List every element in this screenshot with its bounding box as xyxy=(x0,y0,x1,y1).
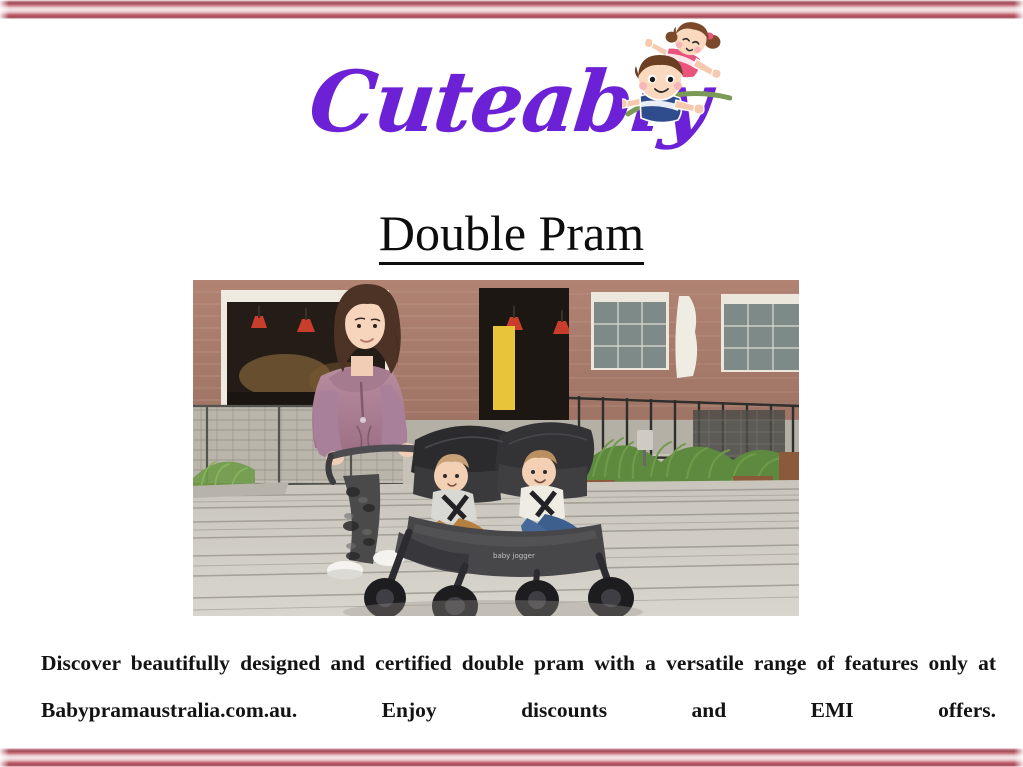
page-title: Double Pram xyxy=(0,206,1023,265)
product-photo: baby jogger xyxy=(193,280,799,616)
decorative-band-top xyxy=(0,0,1023,19)
brand-logo: Cuteably xyxy=(310,18,740,188)
decorative-band-bottom xyxy=(0,748,1023,767)
cartoon-children-icon xyxy=(622,18,732,124)
svg-text:baby jogger: baby jogger xyxy=(493,552,535,560)
description-line-1: Discover beautifully designed and certif… xyxy=(41,651,806,675)
page-title-text: Double Pram xyxy=(379,206,644,265)
description-text: Discover beautifully designed and certif… xyxy=(41,640,996,734)
slide-canvas: Cuteably xyxy=(0,0,1023,767)
